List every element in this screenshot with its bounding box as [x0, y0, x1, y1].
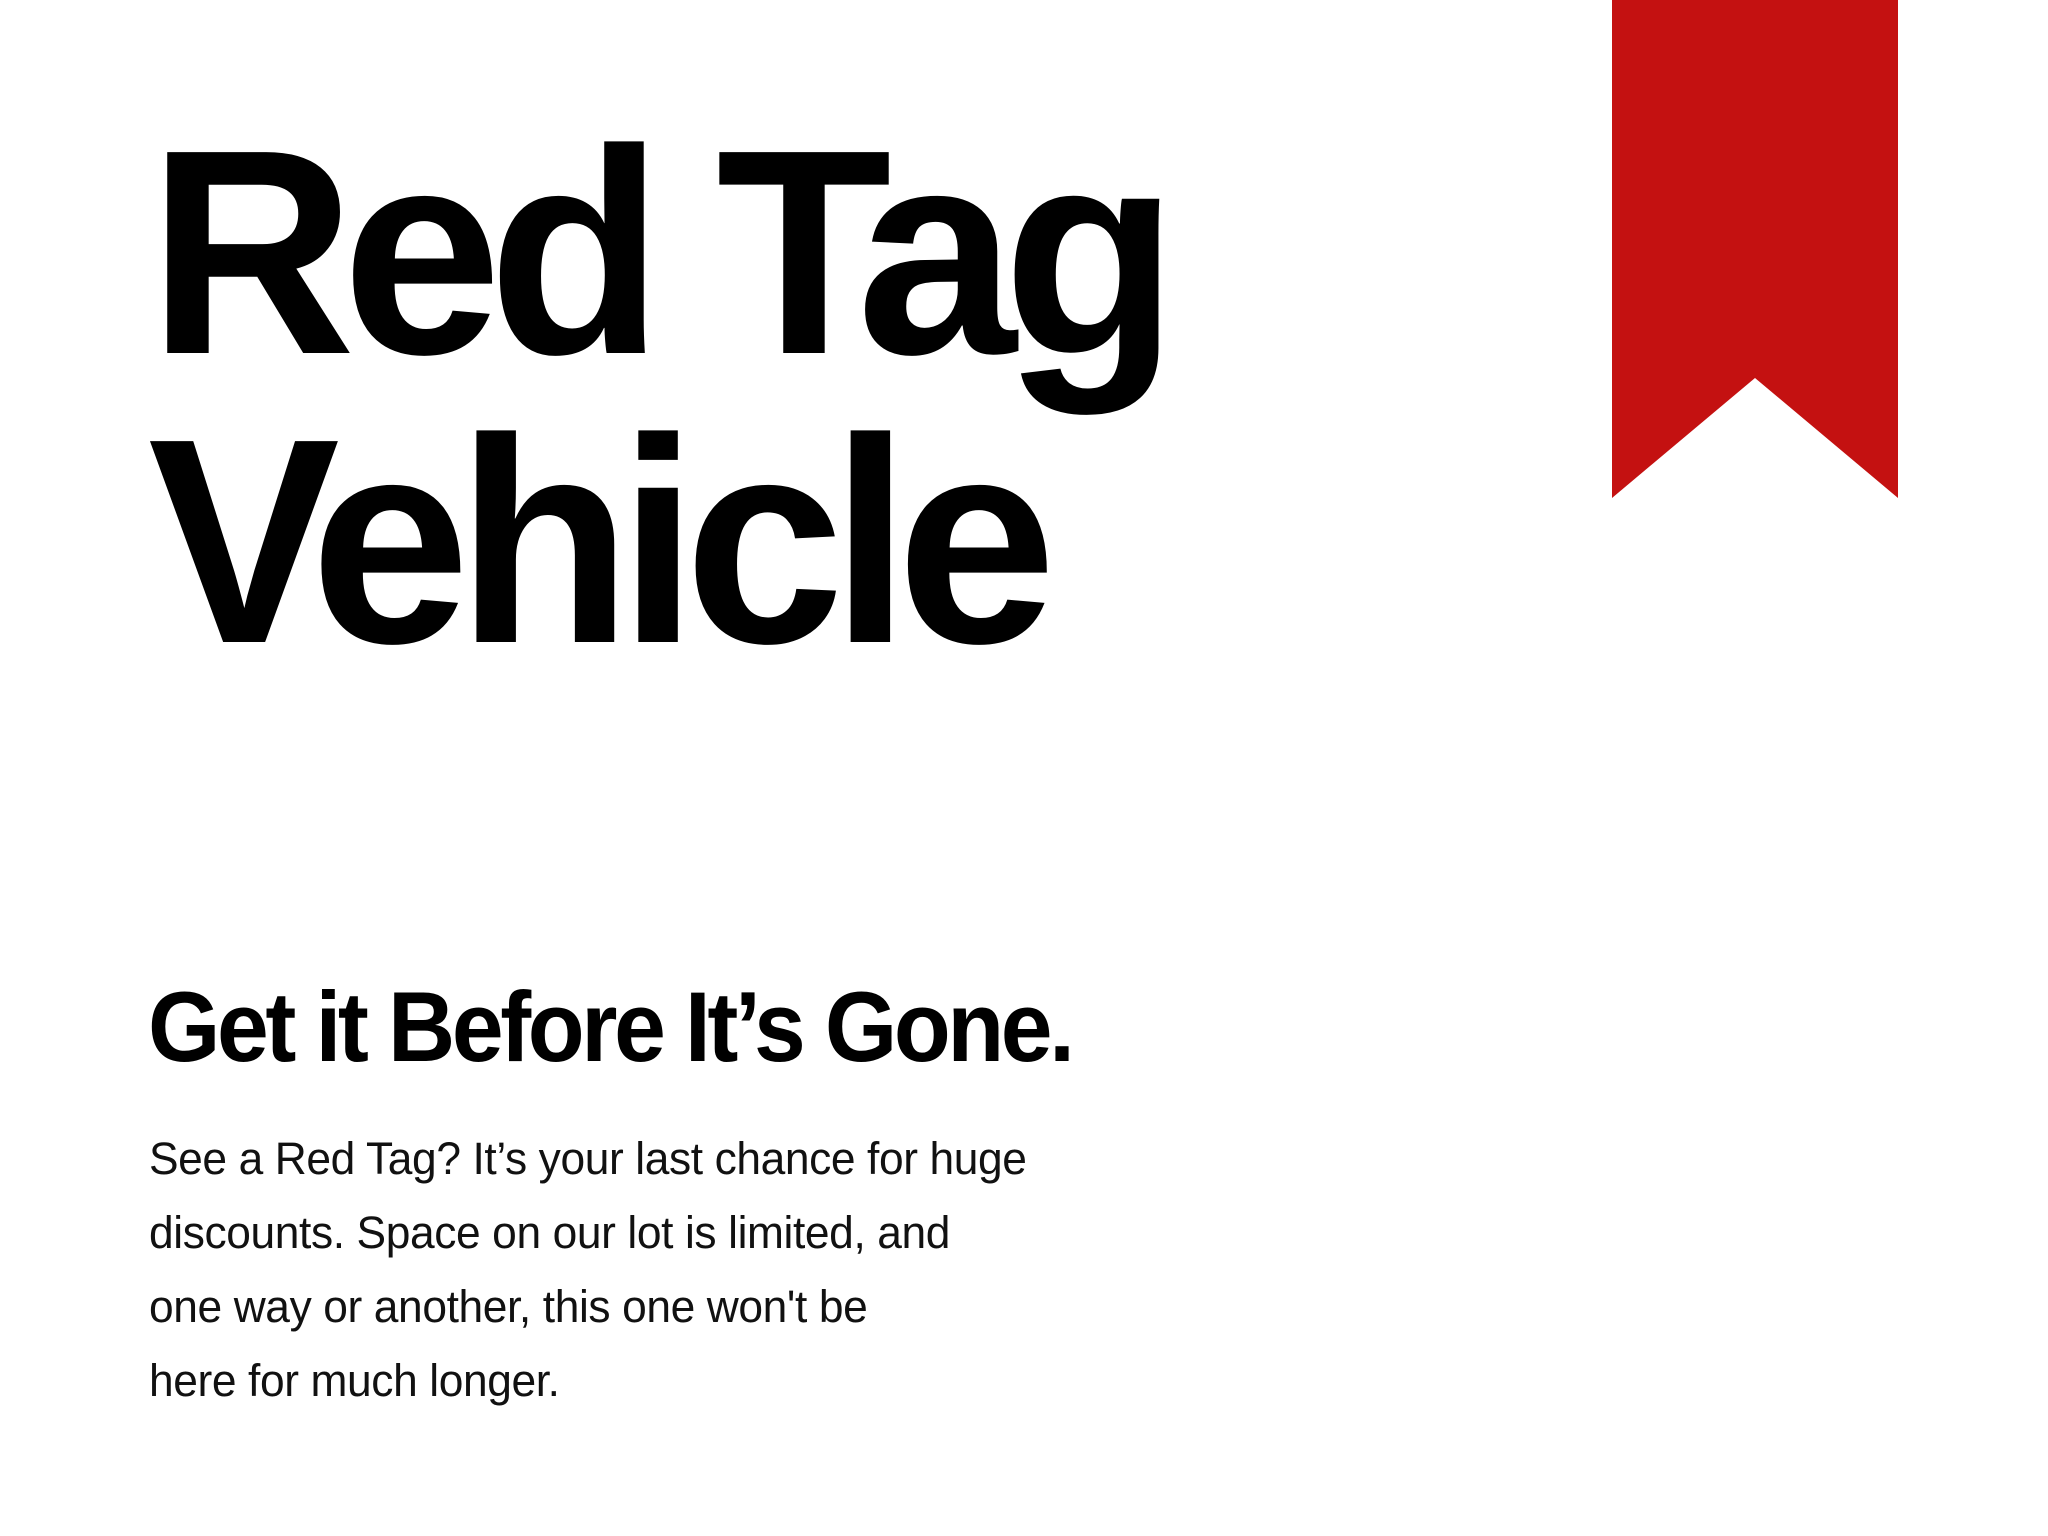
- page-title: Red Tag Vehicle: [148, 108, 1448, 686]
- ribbon-bookmark-icon: [1612, 0, 1898, 498]
- red-tag-ribbon: [1612, 0, 1898, 498]
- subheading: Get it Before It’s Gone.: [148, 975, 1072, 1079]
- body-paragraph: See a Red Tag? It’s your last chance for…: [149, 1122, 1390, 1418]
- red-tag-vehicle-promo-card: Red Tag Vehicle Get it Before It’s Gone.…: [0, 0, 2048, 1536]
